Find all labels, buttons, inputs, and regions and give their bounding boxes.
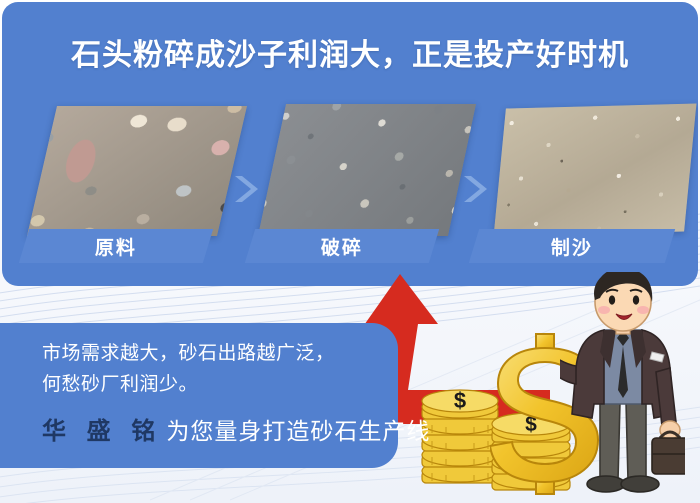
brand-tagline: 为您量身打造砂石生产线 bbox=[166, 412, 430, 446]
stage-label-text: 原料 bbox=[95, 233, 137, 260]
copy-line-1: 市场需求越大，砂石出路越广泛， bbox=[42, 338, 335, 365]
stage-label-sand-making: 制沙 bbox=[469, 229, 675, 263]
chevron-right-icon bbox=[229, 172, 263, 206]
stage-label-raw-material: 原料 bbox=[19, 229, 213, 263]
photo-raw-material bbox=[27, 106, 247, 236]
poster-root: 石头粉碎成沙子利润大，正是投产好时机 原料 破碎 制沙 bbox=[0, 0, 700, 503]
chevron-right-icon bbox=[458, 172, 492, 206]
brand-name: 华 盛 铭 bbox=[42, 411, 162, 446]
svg-text:$: $ bbox=[454, 388, 466, 413]
crushed-gravel-photo bbox=[258, 104, 476, 236]
manufactured-sand-photo bbox=[494, 104, 697, 237]
businessman-illustration bbox=[560, 272, 685, 503]
river-pebbles-photo bbox=[27, 106, 247, 236]
stage-label-crushing: 破碎 bbox=[245, 229, 439, 263]
copy-line-2: 何愁砂厂利润少。 bbox=[42, 369, 198, 396]
stage-label-text: 制沙 bbox=[551, 233, 593, 260]
photo-crushing bbox=[258, 104, 476, 236]
briefcase-icon bbox=[652, 432, 685, 474]
brand-line: 华 盛 铭 为您量身打造砂石生产线 bbox=[42, 411, 430, 446]
photo-sand-making bbox=[494, 104, 697, 237]
stage-label-text: 破碎 bbox=[321, 233, 363, 260]
page-title: 石头粉碎成沙子利润大，正是投产好时机 bbox=[0, 30, 700, 74]
